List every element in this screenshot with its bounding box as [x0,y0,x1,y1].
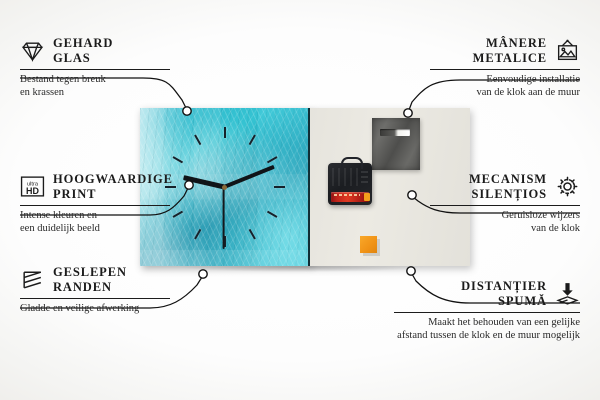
callout-title: GESLEPENRANDEN [53,265,127,294]
gear-icon [555,174,580,199]
callout-description: Gladde en veilige afwerking [20,302,170,315]
callout-mecanism-silentios: MECANISMSILENȚIOS Geruisloze wijzers van… [430,172,580,235]
picture-frame-hanger-icon [555,38,580,63]
callout-description: Bestand tegen breuk en krassen [20,73,170,99]
callout-gehard-glas: GEHARDGLAS Bestand tegen breuk en krasse… [20,36,170,99]
callout-geslepen-randen: GESLEPENRANDEN Gladde en veilige afwerki… [20,265,170,315]
callout-rule [20,205,170,206]
callout-distantier-spuma: DISTANȚIERSPUMĂ Maakt het behouden van e… [394,279,580,342]
callout-description: Eenvoudige installatie van de klok aan d… [430,73,580,99]
callout-rule [430,69,580,70]
callout-description: Intense kleuren en een duidelijk beeld [20,209,170,235]
callout-title: MECANISMSILENȚIOS [469,172,547,201]
callout-rule [20,69,170,70]
infographic-canvas: GEHARDGLAS Bestand tegen breuk en krasse… [0,0,600,400]
callout-rule [430,205,580,206]
callout-title: MÂNEREMETALICE [473,36,547,65]
callout-hoogwaardige-print: ultra HD HOOGWAARDIGEPRINT Intense kleur… [20,172,170,235]
callout-manere-metalice: MÂNEREMETALICE Eenvoudige installatie va… [430,36,580,99]
foam-spacer-icon [555,281,580,306]
beveled-edges-icon [20,267,45,292]
callout-rule [394,312,580,313]
callout-description: Geruisloze wijzers van de klok [430,209,580,235]
diamond-icon [20,38,45,63]
callout-rule [20,298,170,299]
callout-title: DISTANȚIERSPUMĂ [461,279,547,308]
ultra-hd-icon: ultra HD [20,174,45,199]
svg-text:HD: HD [26,186,39,196]
callout-title: HOOGWAARDIGEPRINT [53,172,173,201]
callout-description: Maakt het behouden van een gelijke afsta… [394,316,580,342]
callout-title: GEHARDGLAS [53,36,113,65]
